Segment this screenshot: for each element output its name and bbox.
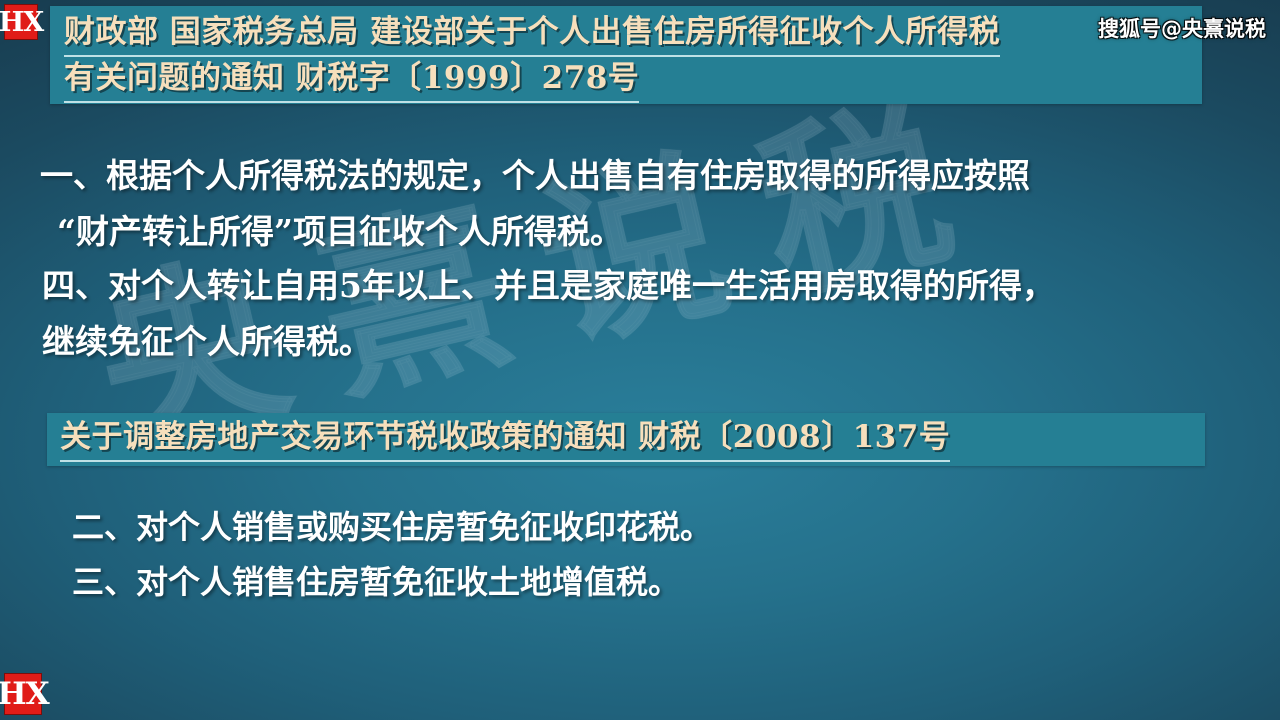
section-1-paragraph-1: 一、根据个人所得税法的规定，个人出售自有住房取得的所得应按照 “财产转让所得”项… (40, 148, 1030, 260)
paragraph-line: 一、根据个人所得税法的规定，个人出售自有住房取得的所得应按照 (40, 148, 1030, 204)
paragraph-line: 三、对个人销售住房暂免征收土地增值税。 (72, 555, 712, 610)
section-2-banner-line-1: 关于调整房地产交易环节税收政策的通知 财税〔2008〕137号 (60, 416, 950, 462)
paragraph-line: “财产转让所得”项目征收个人所得税。 (40, 204, 1030, 260)
sohu-account-watermark: 搜狐号@央熹说税 (1098, 13, 1266, 43)
section-1-banner-line-2: 有关问题的通知 财税字〔1999〕278号 (64, 56, 639, 103)
section-2-banner: 关于调整房地产交易环节税收政策的通知 财税〔2008〕137号 (47, 413, 1205, 466)
paragraph-line: 二、对个人销售或购买住房暂免征收印花税。 (72, 500, 712, 555)
section-1-banner: 财政部 国家税务总局 建设部关于个人出售住房所得征收个人所得税 有关问题的通知 … (50, 6, 1202, 104)
section-1-paragraph-2: 四、对个人转让自用5年以上、并且是家庭唯一生活用房取得的所得， 继续免征个人所得… (42, 258, 1055, 370)
slide-canvas: 央熹说税 HX HX 搜狐号@央熹说税 财政部 国家税务总局 建设部关于个人出售… (0, 0, 1280, 720)
hx-logo-top-label: HX (0, 9, 43, 36)
banner-row: 有关问题的通知 财税字〔1999〕278号 (64, 56, 1202, 102)
banner-row: 财政部 国家税务总局 建设部关于个人出售住房所得征收个人所得税 (64, 10, 1202, 56)
section-2-paragraph-1: 二、对个人销售或购买住房暂免征收印花税。 三、对个人销售住房暂免征收土地增值税。 (72, 500, 712, 610)
hx-logo-bottom-left: HX (4, 673, 42, 715)
section-1-banner-line-1: 财政部 国家税务总局 建设部关于个人出售住房所得征收个人所得税 (64, 10, 1000, 57)
hx-logo-top-left: HX (4, 4, 38, 40)
paragraph-line: 四、对个人转让自用5年以上、并且是家庭唯一生活用房取得的所得， (42, 258, 1055, 314)
hx-logo-bottom-label: HX (0, 679, 49, 710)
paragraph-line: 继续免征个人所得税。 (42, 314, 1055, 370)
